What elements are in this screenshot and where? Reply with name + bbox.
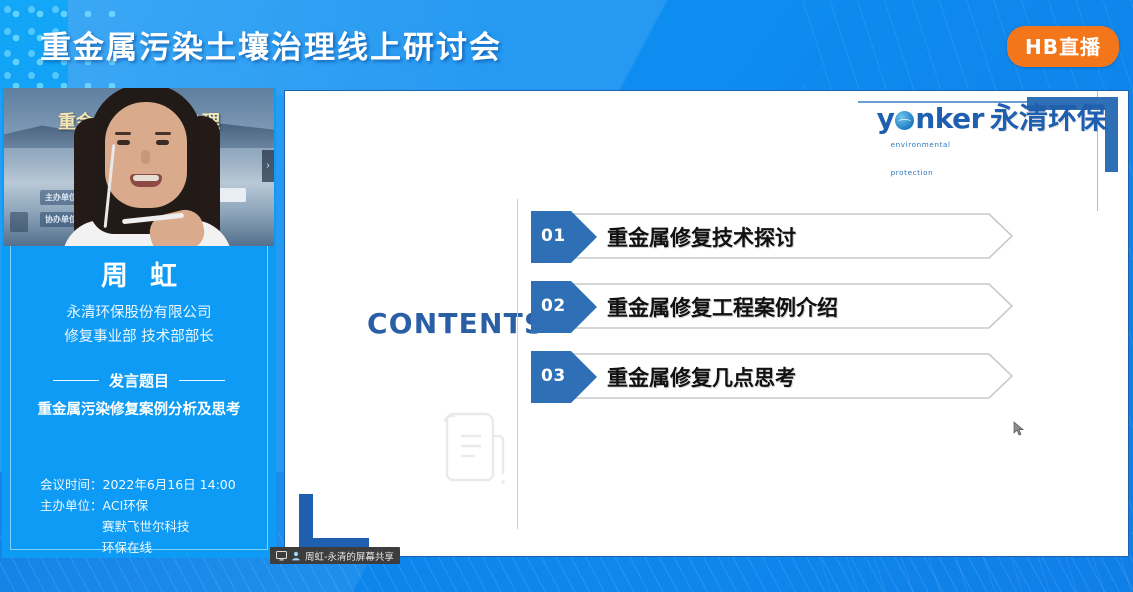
live-badge[interactable]: HB直播 — [1007, 26, 1119, 67]
slide-toc: 01 重金属修复技术探讨 02 重金属修复工程案例介绍 — [531, 213, 1013, 423]
toc-number: 02 — [541, 296, 566, 316]
toc-number: 01 — [541, 226, 566, 246]
topic-heading-label: 发言题目 — [109, 370, 169, 391]
screen-share-viewer: 重金属污染土壤治理线上研讨会 HB直播 重金属污染土壤治理 线上研讨会 2022… — [0, 0, 1133, 592]
logo-wordmark: ynkerenvironmental protection — [877, 105, 984, 133]
shared-slide-frame[interactable]: ynkerenvironmental protection 永清环保 CONTE… — [284, 90, 1129, 557]
person-eyebrow-left — [115, 132, 131, 135]
toc-item[interactable]: 03 重金属修复几点思考 — [531, 353, 1013, 399]
speaker-organization: 永清环保股份有限公司 — [2, 302, 276, 325]
screen-share-status-bar: 周虹-永清的屏幕共享 — [270, 547, 400, 564]
mouse-cursor — [1013, 421, 1025, 437]
topic-heading: 发言题目 — [2, 370, 276, 391]
toc-item[interactable]: 01 重金属修复技术探讨 — [531, 213, 1013, 259]
speaker-card: 重金属污染土壤治理 线上研讨会 2022 主办单位： 协办单位： — [2, 88, 276, 558]
organizer-row-2: 赛默飞世尔科技 — [40, 516, 270, 537]
person-eyebrow-right — [155, 132, 171, 135]
person-share-icon — [291, 551, 301, 561]
meeting-time-value: 2022年6月16日 14:00 — [103, 477, 236, 492]
chevron-right-icon[interactable]: › — [262, 150, 274, 182]
topic-rule-left — [53, 380, 99, 382]
slide-vertical-divider — [517, 199, 518, 529]
slide-canvas: ynkerenvironmental protection 永清环保 CONTE… — [285, 91, 1128, 556]
speaker-role: 修复事业部 技术部部长 — [2, 325, 276, 346]
toc-label: 重金属修复技术探讨 — [607, 222, 796, 252]
globe-icon — [895, 111, 914, 130]
organizer-row: 主办单位：ACI环保 — [40, 495, 270, 516]
logo-chinese: 永清环保 — [990, 103, 1106, 133]
document-outline-icon — [437, 400, 509, 488]
organizer-label: 主办单位： — [40, 498, 103, 513]
video-bg-corner-tag — [10, 212, 28, 232]
toc-item[interactable]: 02 重金属修复工程案例介绍 — [531, 283, 1013, 329]
meeting-time-row: 会议时间：2022年6月16日 14:00 — [40, 474, 270, 495]
page-header: 重金属污染土壤治理线上研讨会 HB直播 — [0, 0, 1133, 88]
screen-share-label: 周虹-永清的屏幕共享 — [305, 549, 394, 563]
toc-number: 03 — [541, 366, 566, 386]
logo-tagline: environmental protection — [891, 131, 984, 187]
organizer-row-3: 环保在线 — [40, 537, 270, 558]
speaker-video-thumbnail[interactable]: 重金属污染土壤治理 线上研讨会 2022 主办单位： 协办单位： — [4, 88, 274, 246]
speaker-name: 周虹 — [2, 254, 276, 293]
person-eye-left — [117, 140, 130, 145]
person-eye-right — [156, 140, 169, 145]
topic-rule-right — [179, 380, 225, 382]
page-title: 重金属污染土壤治理线上研讨会 — [40, 22, 502, 67]
meeting-time-label: 会议时间： — [40, 477, 103, 492]
toc-label: 重金属修复几点思考 — [607, 362, 796, 392]
person-nose — [141, 150, 150, 164]
person-teeth — [133, 175, 159, 181]
toc-label: 重金属修复工程案例介绍 — [607, 292, 838, 322]
yonker-logo: ynkerenvironmental protection 永清环保 — [877, 103, 1106, 133]
meeting-meta: 会议时间：2022年6月16日 14:00 主办单位：ACI环保 赛默飞世尔科技… — [40, 474, 270, 558]
speaker-topic: 重金属污染修复案例分析及思考 — [2, 398, 276, 419]
contents-label: CONTENTS — [367, 307, 545, 340]
slide-corner-decoration-bottom-left — [291, 494, 361, 552]
monitor-icon — [276, 551, 287, 561]
organizer-first: ACI环保 — [103, 498, 149, 513]
